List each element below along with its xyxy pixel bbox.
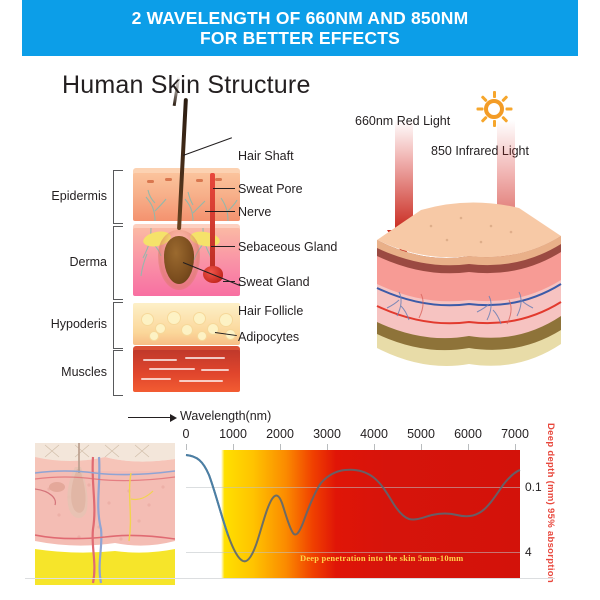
muscle-fiber — [149, 368, 195, 370]
layer-label-muscles: Muscles — [31, 365, 107, 379]
muscle-fiber — [201, 369, 229, 371]
layer-label-hypoderis: Hypoderis — [23, 317, 107, 331]
sun-ray — [481, 95, 488, 102]
header-banner: 2 WAVELENGTH OF 660NM AND 850NM FOR BETT… — [22, 0, 578, 56]
part-label-hair-shaft: Hair Shaft — [238, 149, 294, 163]
adipocyte — [141, 313, 154, 326]
part-label-sweat-gland: Sweat Gland — [238, 275, 310, 289]
muscle-fiber — [143, 359, 177, 361]
part-label-adipocytes: Adipocytes — [238, 330, 299, 344]
sun-ray — [477, 108, 484, 111]
muscles-bracket — [113, 350, 123, 396]
adipocyte — [149, 331, 159, 341]
skin-structure-title: Human Skin Structure — [62, 71, 311, 100]
x-tick-label: 4000 — [354, 427, 394, 441]
adipocyte — [181, 324, 193, 336]
derma-bracket — [113, 226, 123, 300]
muscle-fiber — [185, 357, 225, 359]
muscle-fiber — [179, 380, 223, 382]
x-tick-label: 7000 — [495, 427, 535, 441]
sun-ray — [501, 95, 508, 102]
sweat-duct — [210, 173, 215, 281]
sun-ray — [493, 120, 496, 127]
skin-block-svg — [369, 196, 569, 382]
adipocyte — [219, 313, 233, 327]
skin-block-3d — [369, 196, 569, 382]
hypoderis-bracket — [113, 302, 123, 349]
part-label-nerve: Nerve — [238, 205, 271, 219]
absorption-curve — [25, 445, 555, 585]
x-tick-label: 1000 — [213, 427, 253, 441]
muscle-fiber — [141, 378, 171, 380]
sun-ray — [481, 116, 488, 123]
x-axis-title: Wavelength(nm) — [180, 409, 271, 423]
infographic-root: 2 WAVELENGTH OF 660NM AND 850NM FOR BETT… — [0, 0, 600, 600]
x-tick-label: 5000 — [401, 427, 441, 441]
x-tick-label: 3000 — [307, 427, 347, 441]
epidermis-bracket — [113, 170, 123, 224]
layer-label-derma: Derma — [31, 255, 107, 269]
y-axis-title: Deep depth (mm) 95% absorption — [545, 423, 556, 583]
header-line-1: 2 WAVELENGTH OF 660NM AND 850NM — [132, 8, 469, 28]
part-label-sebaceous-gland: Sebaceous Gland — [238, 240, 337, 254]
wavelength-axis-arrow — [170, 414, 177, 422]
absorption-chart: Wavelength(nm) 0 1000 2000 3000 4000 500… — [25, 405, 580, 595]
hypoderis-block — [133, 303, 240, 345]
sun-ray — [506, 108, 513, 111]
leader-sebaceous-gland — [211, 246, 235, 247]
chart-baseline — [25, 578, 555, 579]
deep-penetration-annotation: Deep penetration into the skin 5mm-10mm — [300, 553, 463, 563]
x-tick-label: 2000 — [260, 427, 300, 441]
light-penetration-panel: 660nm Red Light 850 Infrared Light — [355, 80, 600, 400]
y-tick-label: 4 — [525, 545, 532, 559]
header-title: 2 WAVELENGTH OF 660NM AND 850NM FOR BETT… — [132, 8, 469, 48]
muscle-block — [133, 350, 240, 392]
part-label-sweat-pore: Sweat Pore — [238, 182, 303, 196]
x-tick-label: 0 — [166, 427, 206, 441]
part-label-hair-follicle: Hair Follicle — [238, 304, 303, 318]
layer-label-epidermis: Epidermis — [31, 189, 107, 203]
skin-structure-diagram: Epidermis Derma Hypoderis Muscles Hair S… — [25, 110, 355, 400]
leader-hair-shaft — [183, 137, 232, 156]
epidermis-nerve-branches — [133, 173, 240, 221]
adipocyte — [193, 312, 206, 325]
epidermis-block — [133, 173, 240, 221]
sun-ring — [484, 99, 504, 119]
sun-ray — [493, 91, 496, 98]
leader-sweat-pore — [213, 188, 235, 189]
y-tick-label: 0.1 — [525, 480, 542, 494]
adipocyte — [197, 331, 207, 341]
leader-nerve — [205, 211, 235, 212]
header-line-2: FOR BETTER EFFECTS — [132, 28, 469, 48]
wavelength-axis-line — [128, 417, 172, 418]
adipocyte — [167, 311, 181, 325]
x-tick-label: 6000 — [448, 427, 488, 441]
